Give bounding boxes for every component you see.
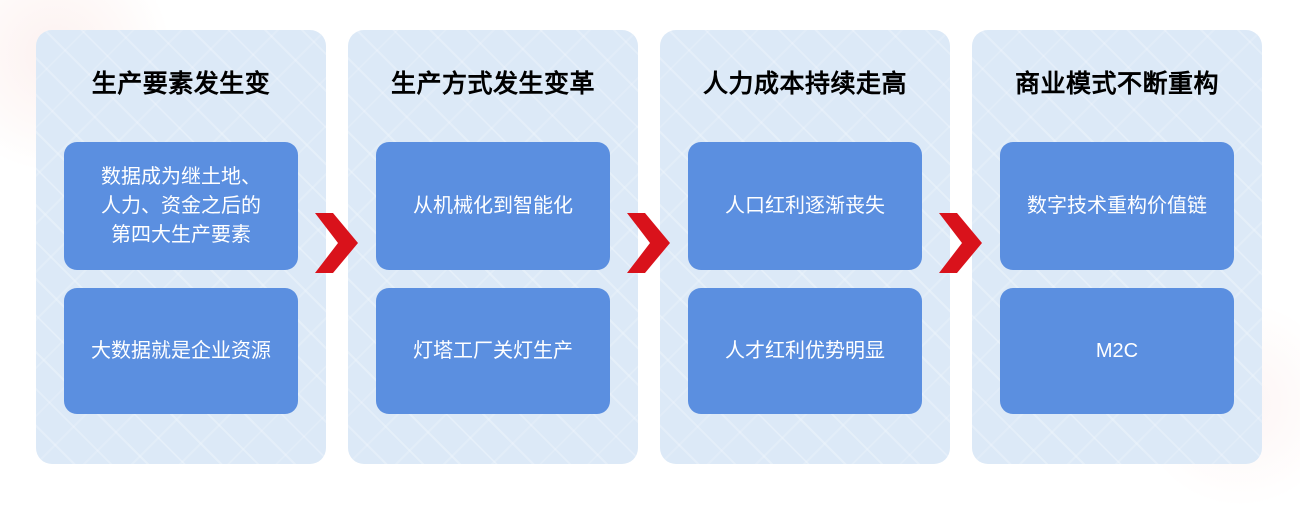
stage-title-3: 人力成本持续走高 [660, 69, 950, 99]
stage-panel-4[interactable]: 商业模式不断重构 数字技术重构价值链 M2C [972, 30, 1262, 464]
stage-title-1: 生产要素发生变 [36, 69, 326, 99]
stage-2-item-2[interactable]: 灯塔工厂关灯生产 [376, 288, 610, 414]
stage-2-item-1[interactable]: 从机械化到智能化 [376, 142, 610, 270]
stage-4-item-1[interactable]: 数字技术重构价值链 [1000, 142, 1234, 270]
stage-1-item-2[interactable]: 大数据就是企业资源 [64, 288, 298, 414]
stage-3-item-2[interactable]: 人才红利优势明显 [688, 288, 922, 414]
stage-panel-2[interactable]: 生产方式发生变革 从机械化到智能化 灯塔工厂关灯生产 [348, 30, 638, 464]
chevron-right-icon [625, 212, 672, 274]
stage-title-2: 生产方式发生变革 [348, 69, 638, 99]
stage-title-4: 商业模式不断重构 [972, 69, 1262, 99]
stage-panel-3[interactable]: 人力成本持续走高 人口红利逐渐丧失 人才红利优势明显 [660, 30, 950, 464]
stage-panel-1[interactable]: 生产要素发生变 数据成为继土地、 人力、资金之后的 第四大生产要素 大数据就是企… [36, 30, 326, 464]
stage-3-item-1[interactable]: 人口红利逐渐丧失 [688, 142, 922, 270]
flow-diagram: 生产要素发生变 数据成为继土地、 人力、资金之后的 第四大生产要素 大数据就是企… [0, 0, 1300, 514]
chevron-right-icon [937, 212, 984, 274]
chevron-right-icon [313, 212, 360, 274]
stage-1-item-1[interactable]: 数据成为继土地、 人力、资金之后的 第四大生产要素 [64, 142, 298, 270]
stage-4-item-2[interactable]: M2C [1000, 288, 1234, 414]
